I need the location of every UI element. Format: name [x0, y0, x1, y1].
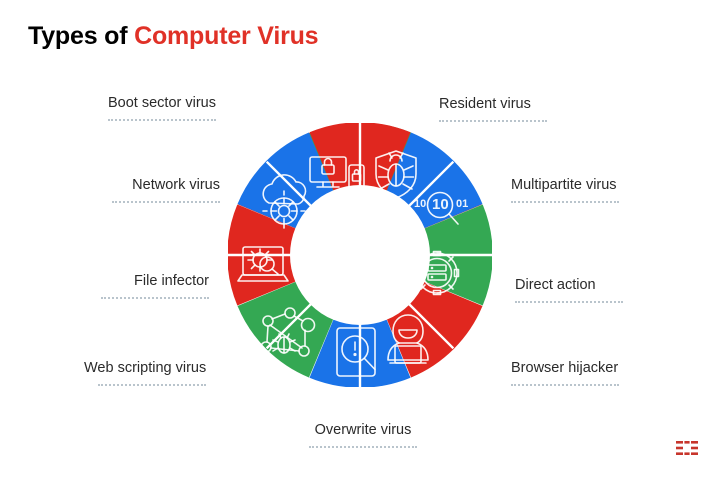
label-boot-sector-virus-text: Boot sector virus: [108, 96, 216, 112]
label-file-infector[interactable]: File infector: [101, 274, 209, 301]
page-title-highlight: Computer Virus: [134, 22, 318, 50]
label-connector-dashes: [98, 384, 206, 388]
page-title: Types of Computer Virus: [28, 22, 318, 51]
label-connector-dashes: [101, 297, 209, 301]
label-connector-dashes: [439, 120, 547, 124]
label-web-scripting-virus-text: Web scripting virus: [84, 361, 206, 377]
label-file-infector-text: File infector: [101, 274, 209, 290]
label-connector-dashes: [112, 201, 220, 205]
label-multipartite-virus-text: Multipartite virus: [511, 178, 619, 194]
label-connector-dashes: [515, 301, 623, 305]
label-network-virus[interactable]: Network virus: [112, 178, 220, 205]
label-overwrite-virus-text: Overwrite virus: [309, 423, 417, 439]
virus-types-donut-chart: 10 10 01: [228, 123, 492, 387]
label-multipartite-virus[interactable]: Multipartite virus: [511, 178, 619, 205]
svg-text:10: 10: [414, 198, 426, 210]
label-connector-dashes: [108, 119, 216, 123]
donut-hole: [290, 185, 430, 325]
label-boot-sector-virus[interactable]: Boot sector virus: [108, 96, 216, 123]
brand-logo[interactable]: [676, 437, 698, 459]
label-direct-action-text: Direct action: [515, 278, 623, 294]
label-connector-dashes: [511, 384, 619, 388]
label-direct-action[interactable]: Direct action: [515, 278, 623, 305]
label-browser-hijacker-text: Browser hijacker: [511, 361, 619, 377]
svg-text:10: 10: [432, 196, 449, 213]
label-connector-dashes: [511, 201, 619, 205]
label-browser-hijacker[interactable]: Browser hijacker: [511, 361, 619, 388]
svg-text:01: 01: [456, 198, 468, 210]
brand-logo-icon: [676, 437, 698, 459]
label-resident-virus[interactable]: Resident virus: [439, 97, 547, 124]
label-overwrite-virus[interactable]: Overwrite virus: [309, 423, 417, 450]
label-web-scripting-virus[interactable]: Web scripting virus: [84, 361, 206, 388]
label-resident-virus-text: Resident virus: [439, 97, 547, 113]
label-network-virus-text: Network virus: [112, 178, 220, 194]
label-connector-dashes: [309, 446, 417, 450]
page-title-plain: Types of: [28, 22, 134, 50]
